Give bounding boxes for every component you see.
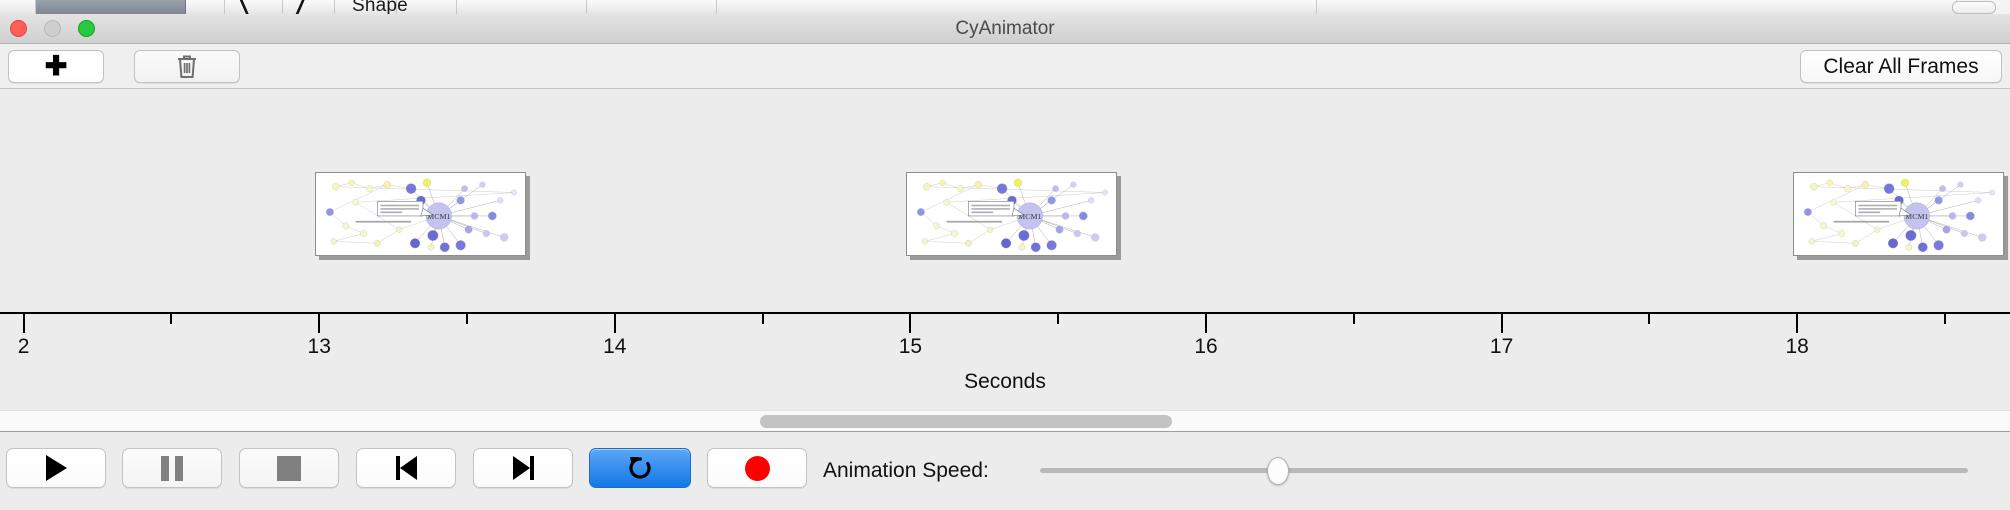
frame-thumbnail-image: MCM1 — [1793, 172, 2004, 256]
frame-thumbnail[interactable]: MCM1 — [906, 172, 1121, 260]
stop-icon — [277, 456, 301, 481]
axis-tick-major — [318, 314, 320, 333]
stop-button[interactable] — [239, 448, 339, 488]
axis-tick-label: 18 — [1785, 335, 1808, 359]
loop-icon — [625, 453, 655, 483]
axis-tick-label: 2 — [18, 335, 30, 359]
background-rounded-control — [1952, 1, 1996, 14]
frame-thumbnail-image: MCM1 — [315, 172, 526, 256]
slider-track — [1040, 468, 1968, 473]
timeline-panel[interactable]: MCM1MCM1MCM1 Seconds 2131415161718 — [0, 90, 2010, 410]
play-button[interactable] — [6, 448, 106, 488]
horizontal-scrollbar[interactable] — [0, 410, 2010, 432]
play-icon — [46, 455, 67, 481]
pause-button[interactable] — [122, 448, 222, 488]
slider-thumb[interactable] — [1267, 457, 1289, 485]
background-glyph-a: ⎲ — [238, 0, 256, 14]
add-frame-button[interactable]: ✚ — [8, 50, 104, 83]
axis-tick-label: 15 — [899, 335, 922, 359]
axis-tick-minor — [1944, 314, 1946, 324]
axis-tick-minor — [1057, 314, 1059, 324]
skip-to-end-icon — [513, 456, 534, 480]
trash-icon — [175, 53, 199, 80]
toolbar: ✚ Clear All Frames — [0, 44, 2010, 89]
timeline-axis: Seconds 2131415161718 — [0, 312, 2010, 410]
background-window-strip: ⎲ ⎳ Shape — [0, 0, 2010, 14]
axis-title: Seconds — [0, 370, 2010, 394]
axis-tick-major — [614, 314, 616, 333]
pause-icon — [161, 456, 183, 481]
axis-tick-major — [1501, 314, 1503, 333]
window-title: CyAnimator — [0, 14, 2010, 44]
axis-tick-minor — [762, 314, 764, 324]
skip-to-start-icon — [396, 456, 417, 480]
axis-tick-minor — [170, 314, 172, 324]
previous-frame-button[interactable] — [356, 448, 456, 488]
axis-line — [0, 312, 2010, 314]
animation-speed-label: Animation Speed: — [823, 459, 989, 483]
plus-icon: ✚ — [45, 53, 68, 80]
next-frame-button[interactable] — [473, 448, 573, 488]
axis-tick-minor — [1353, 314, 1355, 324]
delete-frame-button[interactable] — [134, 50, 240, 83]
background-glyph-b: ⎳ — [295, 0, 313, 14]
axis-tick-major — [1205, 314, 1207, 333]
axis-tick-major — [23, 314, 25, 333]
axis-tick-label: 13 — [308, 335, 331, 359]
record-button[interactable] — [707, 448, 807, 488]
background-shape-label: Shape — [352, 0, 408, 14]
playback-control-bar: Animation Speed: — [0, 433, 2010, 510]
frame-strip[interactable]: MCM1MCM1MCM1 — [0, 90, 2010, 312]
animation-speed-slider[interactable] — [1040, 459, 1968, 483]
loop-button[interactable] — [589, 448, 691, 488]
axis-tick-minor — [466, 314, 468, 324]
axis-tick-label: 14 — [603, 335, 626, 359]
axis-tick-label: 16 — [1194, 335, 1217, 359]
scrollbar-thumb[interactable] — [760, 415, 1172, 428]
axis-tick-minor — [1648, 314, 1650, 324]
record-icon — [745, 456, 770, 481]
frame-thumbnail[interactable]: MCM1 — [1793, 172, 2008, 260]
frame-thumbnail-image: MCM1 — [906, 172, 1117, 256]
axis-tick-major — [1796, 314, 1798, 333]
frame-thumbnail[interactable]: MCM1 — [315, 172, 530, 260]
clear-all-frames-button[interactable]: Clear All Frames — [1800, 50, 2002, 83]
title-bar: CyAnimator — [0, 14, 2010, 44]
axis-tick-label: 17 — [1490, 335, 1513, 359]
axis-tick-major — [909, 314, 911, 333]
